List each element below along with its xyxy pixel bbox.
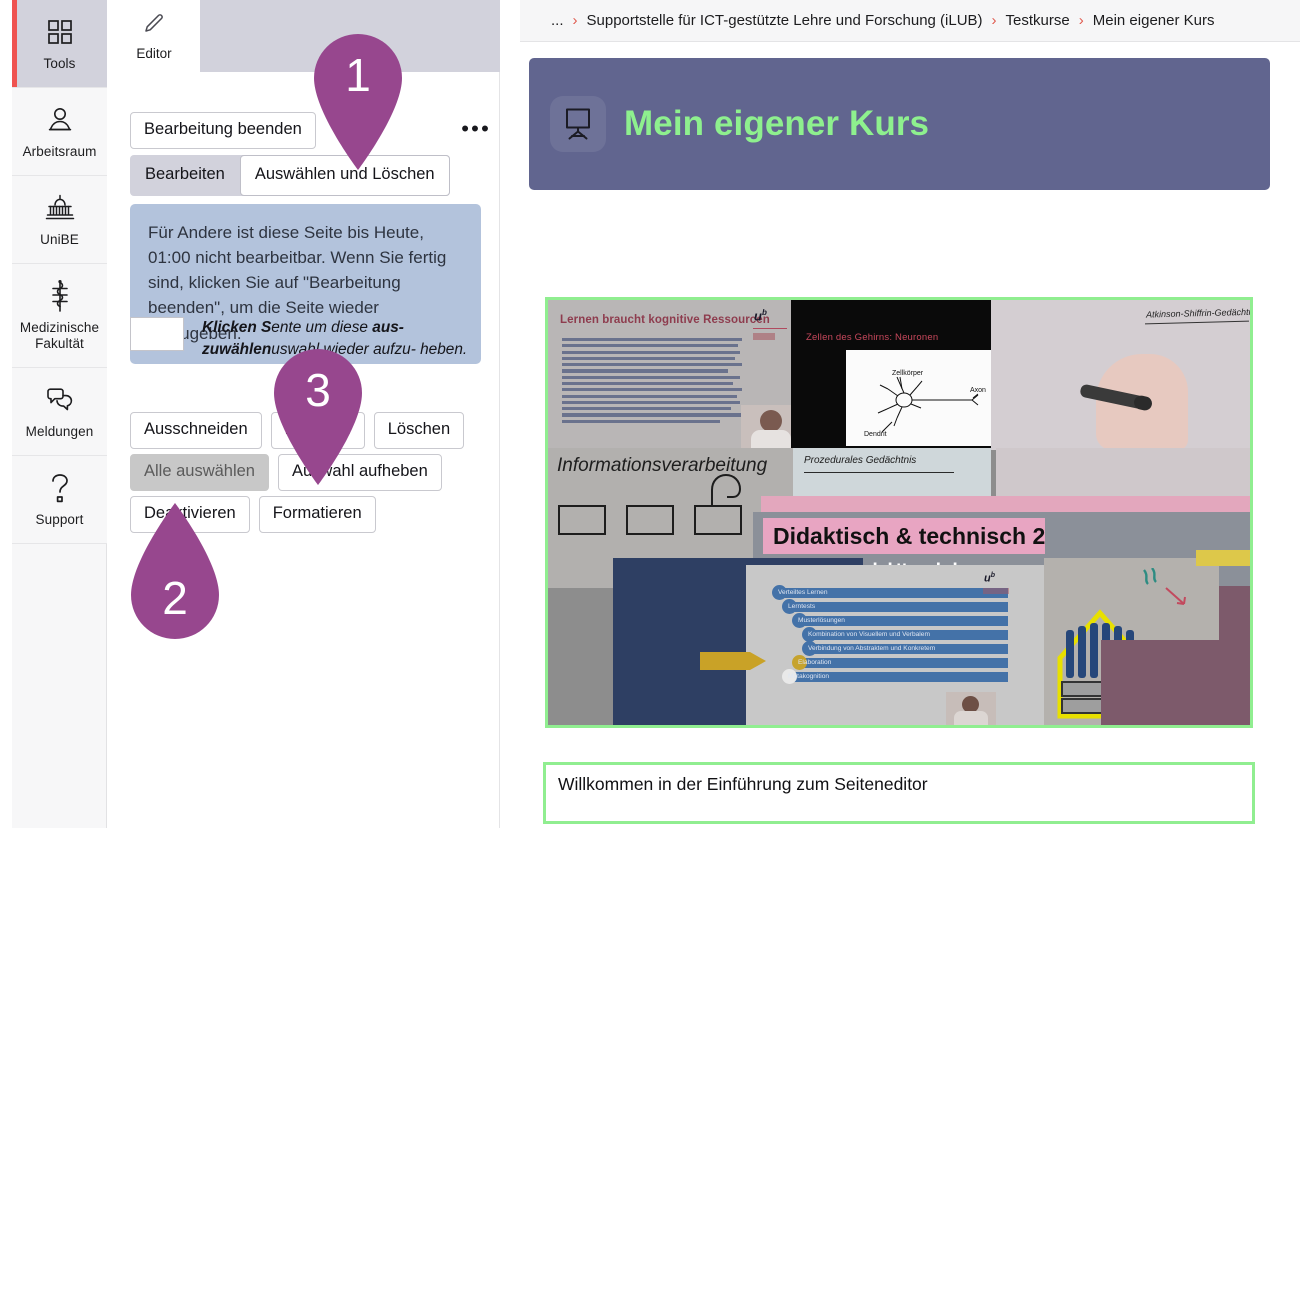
breadcrumb-item-ilub[interactable]: Supportstelle für ICT-gestützte Lehre un… xyxy=(587,12,983,29)
deselect-button[interactable]: Auswahl aufheben xyxy=(278,454,442,491)
course-header: Mein eigener Kurs xyxy=(529,58,1270,190)
hint-seg-2: ente um diese xyxy=(271,319,372,336)
format-button[interactable]: Formatieren xyxy=(259,496,376,533)
tab-editor-label: Editor xyxy=(136,46,171,61)
bullet-item: Metakognition xyxy=(788,673,988,681)
sidebar-item-medizinische-fakultaet[interactable]: Medizinische Fakultät xyxy=(12,264,107,368)
sidebar-item-label: Medizinische Fakultät xyxy=(12,320,107,352)
action-button-row: Deaktivieren Formatieren xyxy=(130,496,376,533)
delete-button[interactable]: Löschen xyxy=(374,412,464,449)
bullet-item: Kombination von Visuellem und Verbalem xyxy=(808,631,1008,639)
pencil-icon xyxy=(142,11,166,40)
sidebar-item-label: UniBE xyxy=(40,232,79,248)
editor-tabstrip: Editor xyxy=(108,0,500,72)
chevron-right-icon: › xyxy=(573,12,578,29)
image-block[interactable]: Lernen braucht kognitive Ressourcen ub Z… xyxy=(545,297,1253,728)
sidebar-item-label: Tools xyxy=(43,56,75,72)
building-icon xyxy=(43,191,77,225)
svg-text:Dendrit: Dendrit xyxy=(864,431,887,438)
copy-button[interactable]: Kopieren xyxy=(271,412,365,449)
svg-text:Axon: Axon xyxy=(970,387,986,394)
easel-icon xyxy=(550,96,606,152)
bullet-item: Verteiltes Lernen xyxy=(778,589,978,597)
bullet-item: Elaboration xyxy=(798,659,998,667)
breadcrumb-item-current[interactable]: Mein eigener Kurs xyxy=(1093,12,1215,29)
sidebar-item-unibe[interactable]: UniBE xyxy=(12,176,107,264)
breadcrumb: ... › Supportstelle für ICT-gestützte Le… xyxy=(520,0,1300,42)
selection-button-row: Alle auswählen Auswahl aufheben xyxy=(130,454,442,491)
chevron-right-icon: › xyxy=(1079,12,1084,29)
asclepius-icon xyxy=(43,279,77,313)
end-editing-button[interactable]: Bearbeitung beenden xyxy=(130,112,316,149)
breadcrumb-item-testkurse[interactable]: Testkurse xyxy=(1006,12,1070,29)
sidebar-item-tools[interactable]: Tools xyxy=(12,0,107,88)
hint-seg-5: uswahl wieder aufzu- xyxy=(271,341,416,358)
question-mark-icon xyxy=(43,471,77,505)
text-block[interactable]: Willkommen in der Einführung zum Seitene… xyxy=(543,762,1255,824)
overlay-prozedurales-label: Prozedurales Gedächtnis xyxy=(804,455,984,467)
app-root: Tools Arbeitsraum xyxy=(0,0,1300,1300)
hint-seg-4: zuwählen xyxy=(202,341,271,358)
sidebar-item-label: Arbeitsraum xyxy=(23,144,97,160)
select-all-button[interactable]: Alle auswählen xyxy=(130,454,269,491)
selection-hint: Klicken Sente um diese aus- zuwählenuswa… xyxy=(130,317,482,361)
tab-editor[interactable]: Editor xyxy=(108,0,200,72)
panel-more-menu-button[interactable]: ••• xyxy=(461,118,491,140)
page-title: Mein eigener Kurs xyxy=(624,104,929,144)
clipboard-button-row: Ausschneiden Kopieren Löschen xyxy=(130,412,464,449)
deactivate-button[interactable]: Deaktivieren xyxy=(130,496,250,533)
tab-auswaehlen-und-loeschen[interactable]: Auswählen und Löschen xyxy=(240,155,450,196)
grid-icon xyxy=(43,15,77,49)
panel-mode-tabs: Bearbeiten Auswählen und Löschen xyxy=(130,155,450,196)
hint-seg-1: Klicken S xyxy=(202,319,271,336)
bullet-item: Musterlösungen xyxy=(798,617,998,625)
left-icon-rail: Tools Arbeitsraum xyxy=(12,0,107,828)
sidebar-item-arbeitsraum[interactable]: Arbeitsraum xyxy=(12,88,107,176)
bullet-item: Verbindung von Abstraktem und Konkretem xyxy=(808,645,1008,653)
sidebar-item-support[interactable]: Support xyxy=(12,456,107,544)
overlay-title-badge: Didaktisch & technisch 2 xyxy=(763,518,1045,554)
person-icon xyxy=(43,103,77,137)
hint-seg-3: aus- xyxy=(372,319,404,336)
sidebar-item-label: Meldungen xyxy=(26,424,94,440)
bullet-item: Lerntests xyxy=(788,603,988,611)
sidebar-item-meldungen[interactable]: Meldungen xyxy=(12,368,107,456)
breadcrumb-ellipsis[interactable]: ... xyxy=(551,12,564,29)
hint-text: Klicken Sente um diese aus- zuwählenuswa… xyxy=(202,317,480,361)
cut-button[interactable]: Ausschneiden xyxy=(130,412,262,449)
text-block-value: Willkommen in der Einführung zum Seitene… xyxy=(558,774,928,794)
editor-panel: Bearbeitung beenden ••• Bearbeiten Auswä… xyxy=(108,72,500,828)
overlay-informationsverarbeitung-label: Informationsverarbeitung xyxy=(557,455,787,479)
hint-seg-6: heben. xyxy=(420,341,467,358)
svg-text:Zellkörper: Zellkörper xyxy=(892,370,924,377)
chevron-right-icon: › xyxy=(992,12,997,29)
panel-toprow: Bearbeitung beenden xyxy=(130,112,482,149)
overlay-neuron-title: Zellen des Gehirns: Neuronen xyxy=(806,332,966,343)
chat-bubbles-icon xyxy=(43,383,77,417)
tab-bearbeiten[interactable]: Bearbeiten xyxy=(130,155,240,196)
sidebar-item-label: Support xyxy=(36,512,84,528)
hint-placeholder-box[interactable] xyxy=(130,317,184,351)
